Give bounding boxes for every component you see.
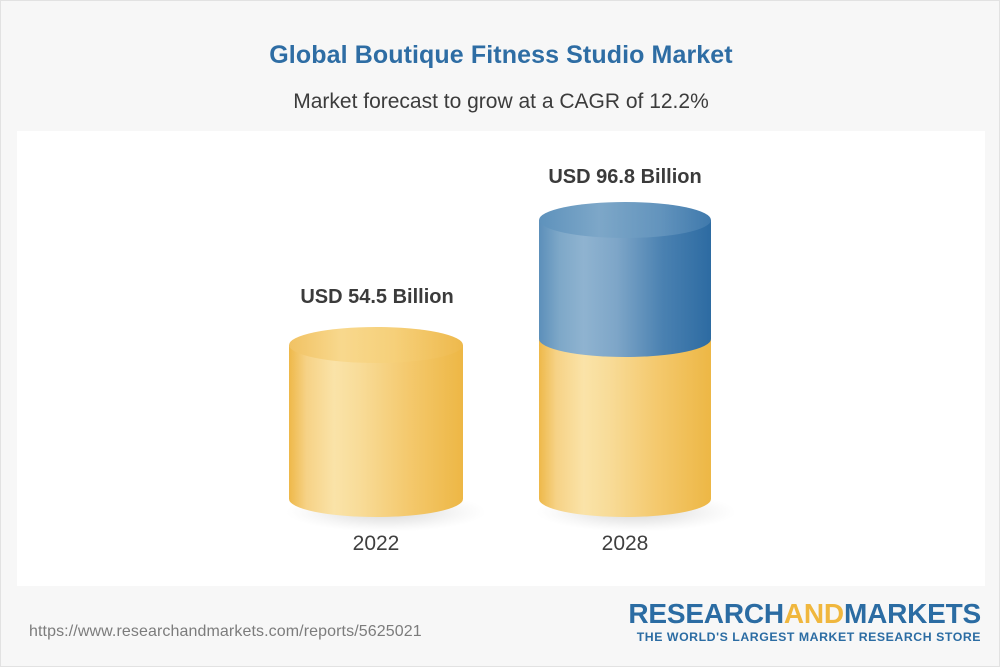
bar-value-label-2022: USD 54.5 Billion <box>189 286 565 309</box>
bar-value-label-2028: USD 96.8 Billion <box>437 166 813 189</box>
brand-logo[interactable]: RESEARCHANDMARKETS THE WORLD'S LARGEST M… <box>628 599 981 644</box>
bar-2028 <box>536 202 736 532</box>
infographic-container: Global Boutique Fitness Studio Market Ma… <box>0 0 1000 667</box>
brand-word-and: AND <box>784 598 844 629</box>
bar-2022 <box>286 327 486 532</box>
brand-word-research: RESEARCH <box>628 598 784 629</box>
bar-chart-cylinders <box>1 1 1000 667</box>
category-label-2028: 2028 <box>437 532 813 556</box>
source-url[interactable]: https://www.researchandmarkets.com/repor… <box>29 623 422 641</box>
brand-tagline: THE WORLD'S LARGEST MARKET RESEARCH STOR… <box>628 630 981 644</box>
brand-word-markets: MARKETS <box>844 598 981 629</box>
brand-wordmark: RESEARCHANDMARKETS <box>628 599 981 628</box>
